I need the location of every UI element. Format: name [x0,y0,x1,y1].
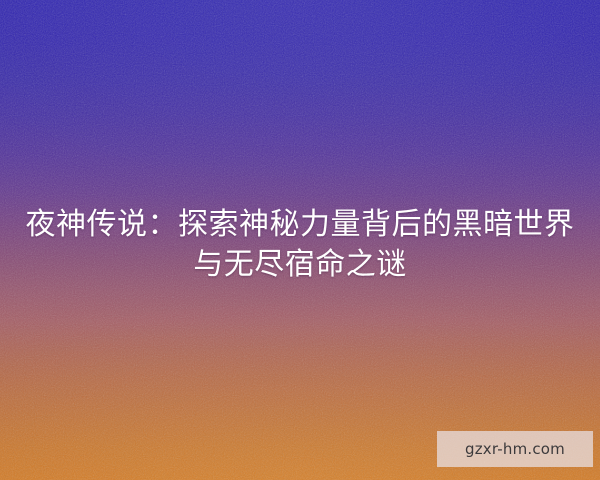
watermark-text: gzxr-hm.com [465,440,565,458]
watermark-badge: gzxr-hm.com [437,431,593,467]
banner-image: 夜神传说：探索神秘力量背后的黑暗世界 与无尽宿命之谜 gzxr-hm.com [0,0,600,480]
gradient-background [0,0,600,480]
